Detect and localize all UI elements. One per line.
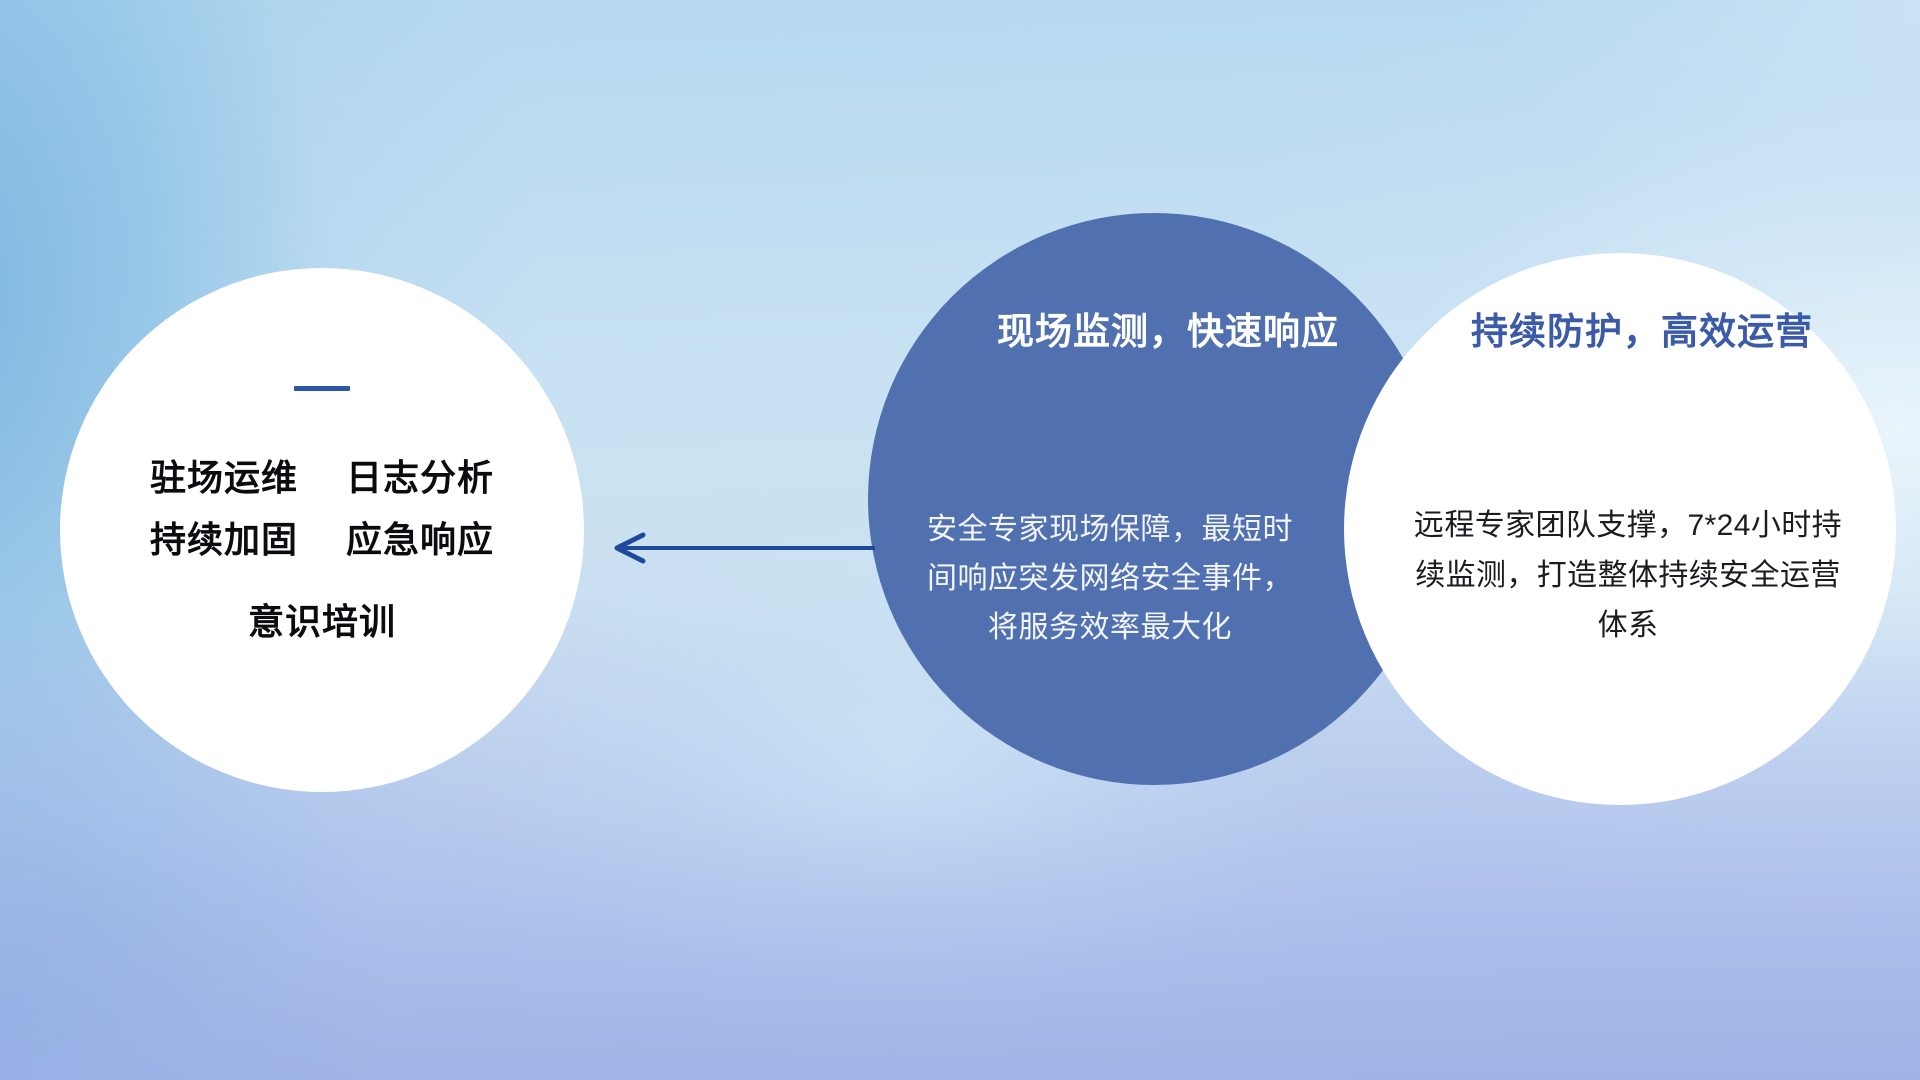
accent-divider-dash bbox=[294, 386, 350, 391]
right-heading: 持续防护，高效运营 bbox=[1344, 301, 1896, 355]
left-circle-content: 驻场运维 日志分析 持续加固 应急响应 意识培训 bbox=[60, 268, 584, 792]
left-pointing-arrow bbox=[597, 528, 875, 568]
list-item: 日志分析 bbox=[346, 457, 494, 498]
list-row: 持续加固 应急响应 bbox=[150, 509, 494, 571]
service-keyword-list: 驻场运维 日志分析 持续加固 应急响应 意识培训 bbox=[150, 447, 494, 653]
list-item: 应急响应 bbox=[346, 519, 494, 560]
right-body-text: 远程专家团队支撑，7*24小时持续监测，打造整体持续安全运营体系 bbox=[1402, 501, 1854, 651]
list-item: 意识培训 bbox=[248, 601, 396, 642]
list-item: 驻场运维 bbox=[150, 457, 298, 498]
diagram-canvas: 现场监测，快速响应 安全专家现场保障，最短时间响应突发网络安全事件，将服务效率最… bbox=[0, 0, 1920, 1080]
list-row: 意识培训 bbox=[150, 591, 494, 653]
list-item: 持续加固 bbox=[150, 519, 298, 560]
list-row: 驻场运维 日志分析 bbox=[150, 447, 494, 509]
right-circle-content: 持续防护，高效运营 远程专家团队支撑，7*24小时持续监测，打造整体持续安全运营… bbox=[1344, 253, 1896, 805]
middle-body-text: 安全专家现场保障，最短时间响应突发网络安全事件，将服务效率最大化 bbox=[920, 505, 1300, 652]
